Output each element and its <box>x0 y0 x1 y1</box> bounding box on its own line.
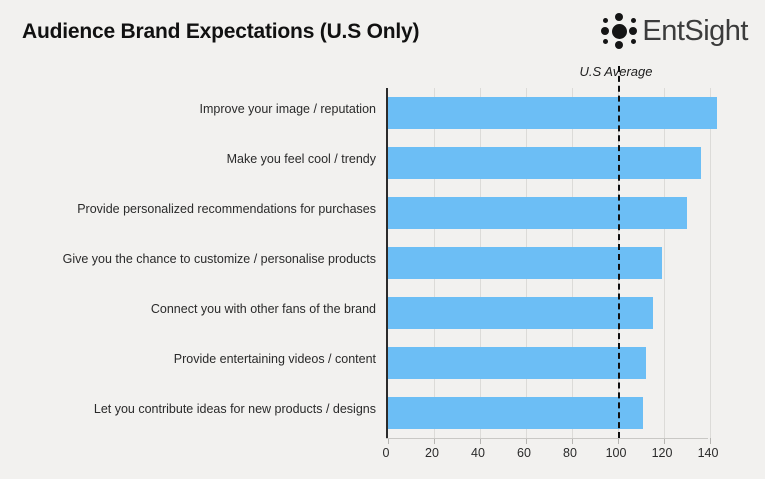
bar-row[interactable]: Let you contribute ideas for new product… <box>388 388 710 438</box>
x-axis-tick-label: 100 <box>606 446 627 460</box>
bar-row[interactable]: Make you feel cool / trendy <box>388 138 710 188</box>
entsight-dot-logo-icon <box>598 12 640 50</box>
x-axis-tick-label: 20 <box>425 446 439 460</box>
bar-row[interactable]: Provide personalized recommendations for… <box>388 188 710 238</box>
bar-category-label: Let you contribute ideas for new product… <box>94 402 376 416</box>
page-title: Audience Brand Expectations (U.S Only) <box>22 20 419 44</box>
chart-header: Audience Brand Expectations (U.S Only) E… <box>0 0 765 62</box>
bar-category-label: Improve your image / reputation <box>200 102 376 116</box>
logo-wordmark: EntSight <box>642 16 748 46</box>
plot-area: Improve your image / reputationMake you … <box>386 88 710 438</box>
bar-row[interactable]: Provide entertaining videos / content <box>388 338 710 388</box>
bar[interactable] <box>388 247 662 279</box>
bar-category-label: Give you the chance to customize / perso… <box>63 252 376 266</box>
x-axis-tick-label: 60 <box>517 446 531 460</box>
bar-row[interactable]: Connect you with other fans of the brand <box>388 288 710 338</box>
x-axis-line <box>386 438 708 439</box>
x-axis-tick <box>710 438 711 444</box>
bar-row[interactable]: Improve your image / reputation <box>388 88 710 138</box>
bar-category-label: Provide entertaining videos / content <box>174 352 376 366</box>
bar[interactable] <box>388 197 687 229</box>
bar-row[interactable]: Give you the chance to customize / perso… <box>388 238 710 288</box>
gridline <box>710 88 711 438</box>
bar[interactable] <box>388 297 653 329</box>
x-axis-tick-label: 40 <box>471 446 485 460</box>
average-reference-line <box>618 66 620 438</box>
bar-series: Improve your image / reputationMake you … <box>388 88 710 438</box>
bar-category-label: Connect you with other fans of the brand <box>151 302 376 316</box>
bar[interactable] <box>388 397 643 429</box>
bar[interactable] <box>388 147 701 179</box>
bar[interactable] <box>388 97 717 129</box>
x-axis-tick-label: 120 <box>652 446 673 460</box>
entsight-logo: EntSight <box>598 12 748 50</box>
bar-category-label: Make you feel cool / trendy <box>227 152 376 166</box>
average-annotation: U.S Average <box>0 64 765 84</box>
bar-category-label: Provide personalized recommendations for… <box>77 202 376 216</box>
bar[interactable] <box>388 347 646 379</box>
x-axis-tick-label: 80 <box>563 446 577 460</box>
average-annotation-label: U.S Average <box>580 64 653 79</box>
x-axis-tick-label: 140 <box>698 446 719 460</box>
x-axis: 020406080100120140 <box>386 438 708 462</box>
x-axis-tick-label: 0 <box>383 446 390 460</box>
